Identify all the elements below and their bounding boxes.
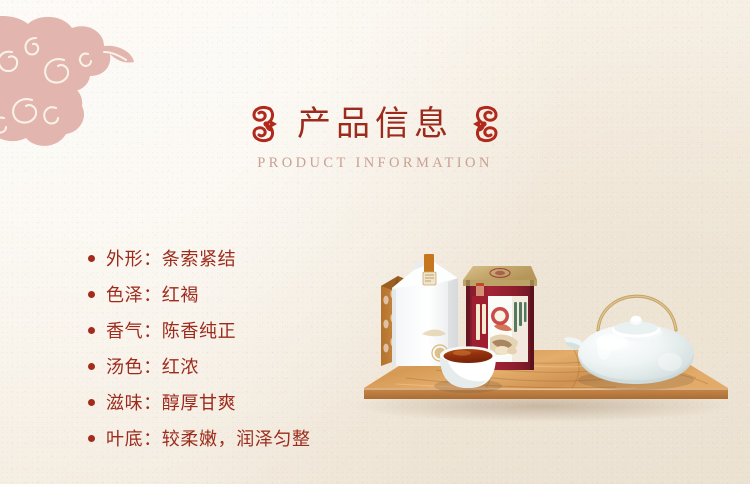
page-subtitle: PRODUCT INFORMATION bbox=[0, 155, 750, 172]
bullet-dot-icon bbox=[88, 255, 95, 262]
white-gable-carton bbox=[381, 254, 458, 366]
list-item: 叶底：较柔嫩，润泽匀整 bbox=[88, 420, 388, 456]
page-title: 产品信息 bbox=[297, 107, 453, 141]
bullet-dot-icon bbox=[88, 399, 95, 406]
list-item-label: 滋味：醇厚甘爽 bbox=[106, 389, 236, 415]
cloud-scroll-ornament-left-icon bbox=[247, 100, 277, 148]
list-item-label: 色泽：红褐 bbox=[106, 281, 199, 307]
tea-product-photo bbox=[336, 238, 740, 424]
list-item-label: 叶底：较柔嫩，润泽匀整 bbox=[106, 425, 311, 451]
bullet-dot-icon bbox=[88, 291, 95, 298]
bullet-dot-icon bbox=[88, 327, 95, 334]
page-header: 产品信息 PRODUCT INFORMATION bbox=[0, 100, 750, 172]
cloud-scroll-ornament-right-icon bbox=[473, 100, 503, 148]
bullet-dot-icon bbox=[88, 363, 95, 370]
tea-cup bbox=[434, 346, 502, 393]
product-info-banner: 产品信息 PRODUCT INFORMATION 外形：条索紧结 bbox=[0, 0, 750, 484]
white-teapot bbox=[564, 296, 694, 390]
list-item-label: 外形：条索紧结 bbox=[106, 245, 236, 271]
list-item-label: 汤色：红浓 bbox=[106, 353, 199, 379]
list-item-label: 香气：陈香纯正 bbox=[106, 317, 236, 343]
bullet-dot-icon bbox=[88, 435, 95, 442]
